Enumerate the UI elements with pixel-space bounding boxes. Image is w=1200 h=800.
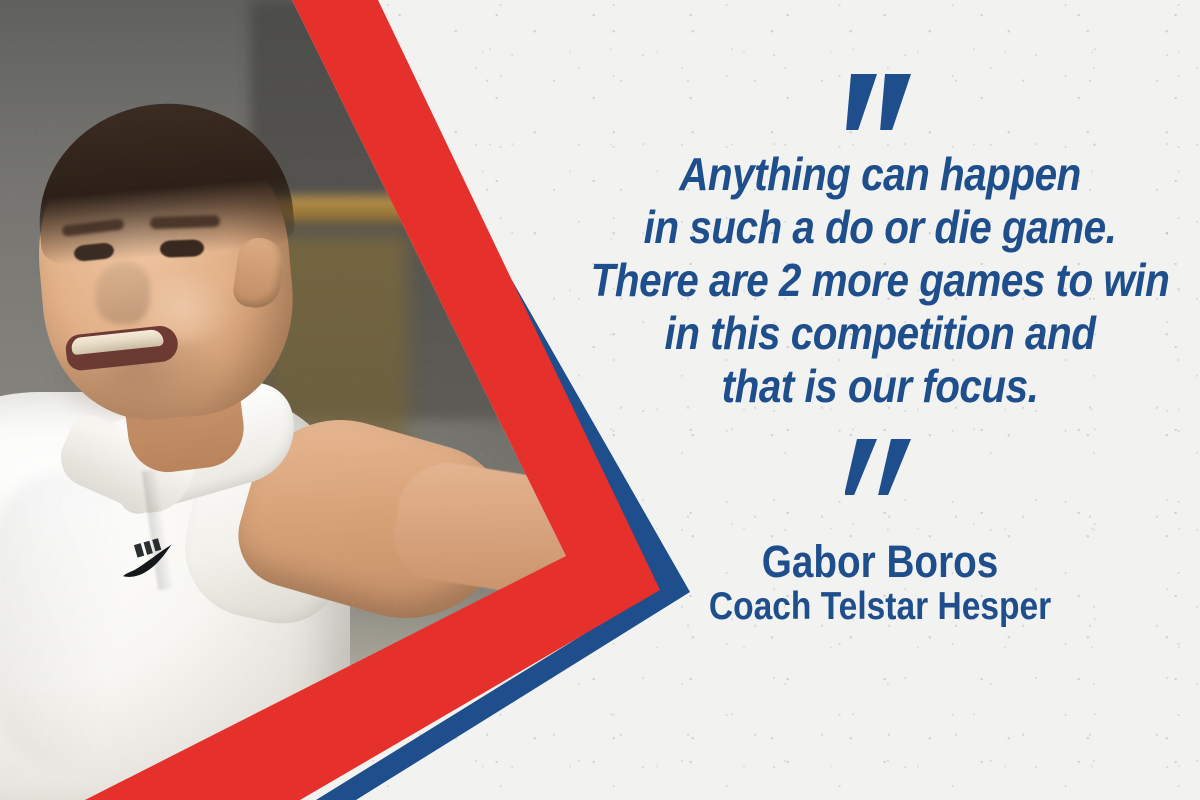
attribution: Gabor Boros Coach Telstar Hesper <box>681 539 1079 629</box>
quote-content: Anything can happen in such a do or die … <box>560 0 1200 800</box>
quote-text: Anything can happen in such a do or die … <box>563 148 1197 413</box>
attribution-name: Gabor Boros <box>709 539 1051 585</box>
close-quote-mark <box>845 439 915 495</box>
attribution-role: Coach Telstar Hesper <box>709 585 1051 629</box>
open-quote-mark <box>845 74 915 130</box>
